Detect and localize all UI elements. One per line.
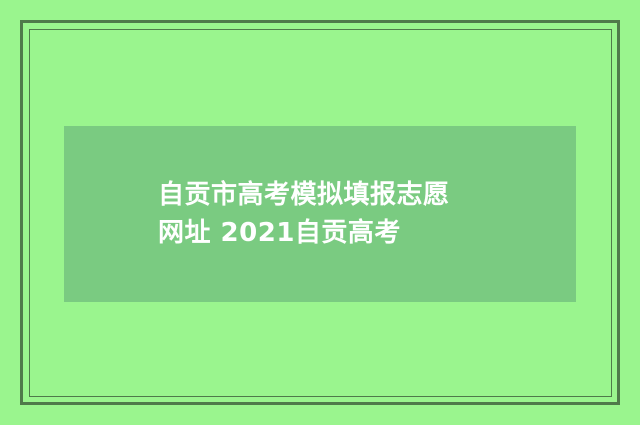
thumbnail-canvas: 自贡市高考模拟填报志愿 网址 2021自贡高考 bbox=[0, 0, 640, 425]
headline-line-1: 自贡市高考模拟填报志愿 bbox=[158, 176, 546, 214]
headline-line-2: 网址 2021自贡高考 bbox=[158, 214, 546, 252]
headline-panel: 自贡市高考模拟填报志愿 网址 2021自贡高考 bbox=[64, 126, 576, 302]
